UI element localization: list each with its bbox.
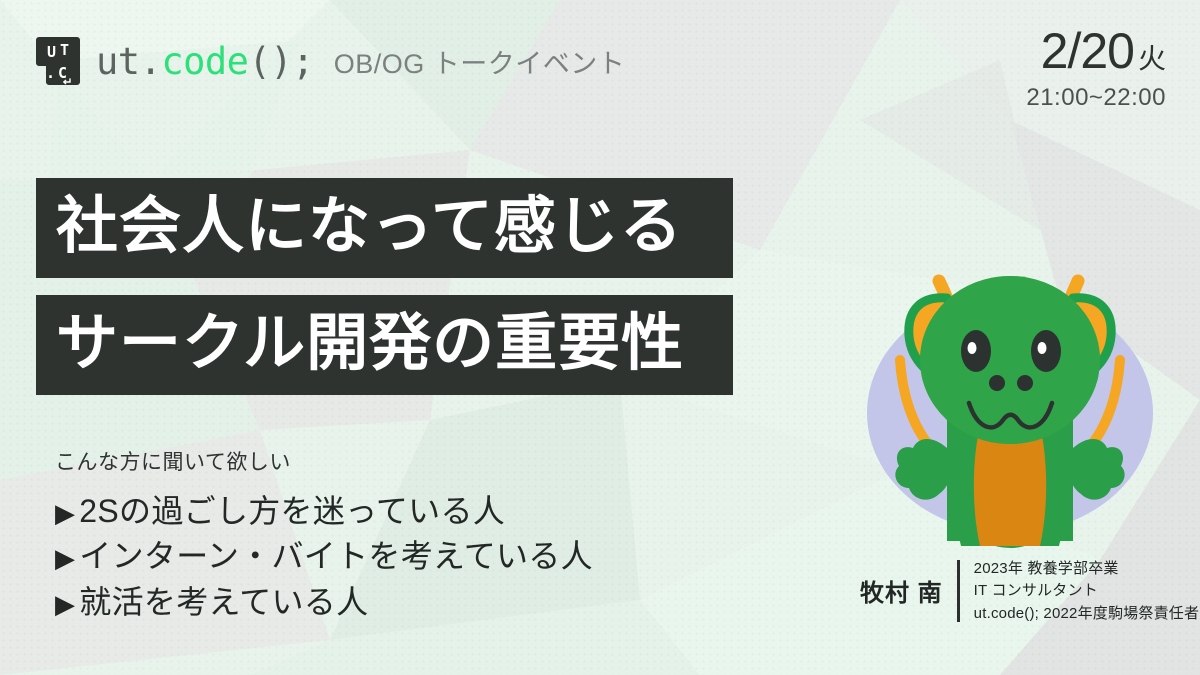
speaker-bio: 2023年 教養学部卒業 IT コンサルタント ut.code(); 2022年…	[974, 558, 1200, 624]
svg-text:.: .	[46, 64, 55, 82]
triangle-bullet-icon: ▶	[55, 591, 75, 617]
wordmark-prefix: ut.	[96, 40, 161, 83]
speaker-block: 牧村 南 2023年 教養学部卒業 IT コンサルタント ut.code(); …	[860, 558, 1199, 624]
speaker-name: 牧村 南	[860, 573, 943, 608]
audience-item: ▶ 就活を考えている人	[55, 580, 593, 625]
audience-item: ▶ 2Sの過ごし方を迷っている人	[55, 489, 593, 534]
triangle-bullet-icon: ▶	[55, 545, 75, 571]
triangle-bullet-icon: ▶	[55, 500, 75, 526]
headline: 社会人になって感じる サークル開発の重要性	[36, 178, 733, 395]
audience-item-label: 2Sの過ごし方を迷っている人	[79, 489, 505, 534]
svg-text:U: U	[47, 43, 56, 61]
header-subtitle: OB/OG トークイベント	[334, 42, 626, 81]
speaker-bio-line: IT コンサルタント	[974, 580, 1200, 601]
speaker-bio-line: ut.code(); 2022年度駒場祭責任者	[974, 603, 1200, 624]
audience-item-label: 就活を考えている人	[79, 580, 368, 625]
audience-item-label: インターン・バイトを考えている人	[79, 534, 593, 579]
event-poster: U T . C ut.code(); OB/OG トークイベント 2/20 火 …	[0, 0, 1200, 675]
event-day-of-week: 火	[1138, 45, 1166, 73]
headline-line-1: 社会人になって感じる	[36, 178, 733, 278]
wordmark: ut.code();	[96, 43, 314, 80]
svg-text:C: C	[58, 64, 67, 82]
event-date: 2/20	[1041, 26, 1134, 76]
header: U T . C ut.code(); OB/OG トークイベント	[34, 34, 625, 88]
green-dragon-mascot-icon	[835, 148, 1185, 548]
audience-section: こんな方に聞いて欲しい ▶ 2Sの過ごし方を迷っている人 ▶ インターン・バイト…	[55, 446, 593, 625]
speaker-divider	[957, 560, 960, 622]
audience-item: ▶ インターン・バイトを考えている人	[55, 534, 593, 579]
wordmark-suffix: ();	[248, 40, 313, 83]
utcode-terminal-logo-icon: U T . C	[34, 34, 82, 88]
speaker-bio-line: 2023年 教養学部卒業	[974, 558, 1200, 579]
audience-label: こんな方に聞いて欲しい	[55, 446, 593, 476]
headline-line-2: サークル開発の重要性	[36, 295, 733, 395]
wordmark-highlight: code	[161, 40, 248, 83]
svg-text:T: T	[60, 41, 69, 59]
date-block: 2/20 火 21:00~22:00	[1026, 26, 1166, 110]
event-time: 21:00~22:00	[1026, 86, 1166, 110]
